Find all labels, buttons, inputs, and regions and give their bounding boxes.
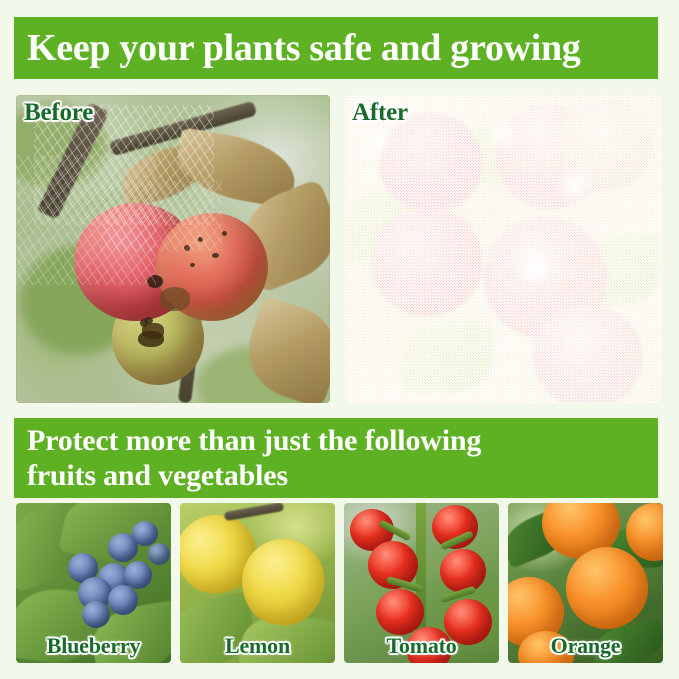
- tomato: [376, 589, 424, 635]
- tomato: [440, 549, 486, 593]
- pest-spot: [222, 231, 227, 236]
- pest-webbing: [102, 181, 222, 251]
- orange: [566, 547, 648, 629]
- after-label: After: [352, 99, 408, 127]
- pest-spot: [212, 253, 219, 258]
- thumbnail-label-lemon: Lemon: [180, 633, 335, 659]
- page-title: Keep your plants safe and growing: [27, 27, 658, 69]
- rot-patch: [138, 331, 164, 347]
- thumbnail-label-blueberry: Blueberry: [16, 633, 171, 659]
- subheading-line-2: fruits and vegetables: [27, 458, 658, 493]
- blueberry: [108, 585, 138, 615]
- blueberry: [82, 601, 110, 628]
- before-photo: Before: [16, 95, 330, 403]
- pest-spot: [140, 319, 148, 327]
- thumbnail-lemon: Lemon: [180, 503, 335, 663]
- subheading-line-1: Protect more than just the following: [27, 423, 658, 458]
- thumbnail-label-tomato: Tomato: [344, 633, 499, 659]
- branch: [224, 503, 285, 521]
- fruit-thumbnail-row: Blueberry Lemon Tomato: [16, 503, 663, 663]
- thumbnail-orange: Orange: [508, 503, 663, 663]
- before-label: Before: [24, 99, 93, 127]
- blueberry: [132, 521, 158, 546]
- thumbnail-blueberry: Blueberry: [16, 503, 171, 663]
- thumbnail-tomato: Tomato: [344, 503, 499, 663]
- product-infographic: Keep your plants safe and growing Befor: [0, 0, 679, 679]
- thumbnail-label-orange: Orange: [508, 633, 663, 659]
- net-mesh-dots: [345, 95, 663, 403]
- blueberry: [148, 543, 170, 565]
- blueberry: [124, 561, 152, 589]
- rot-patch: [160, 287, 190, 311]
- subheading-banner: Protect more than just the following fru…: [14, 418, 658, 498]
- after-photo: After: [345, 95, 663, 403]
- header-banner: Keep your plants safe and growing: [14, 17, 658, 79]
- pest-spot: [190, 263, 195, 267]
